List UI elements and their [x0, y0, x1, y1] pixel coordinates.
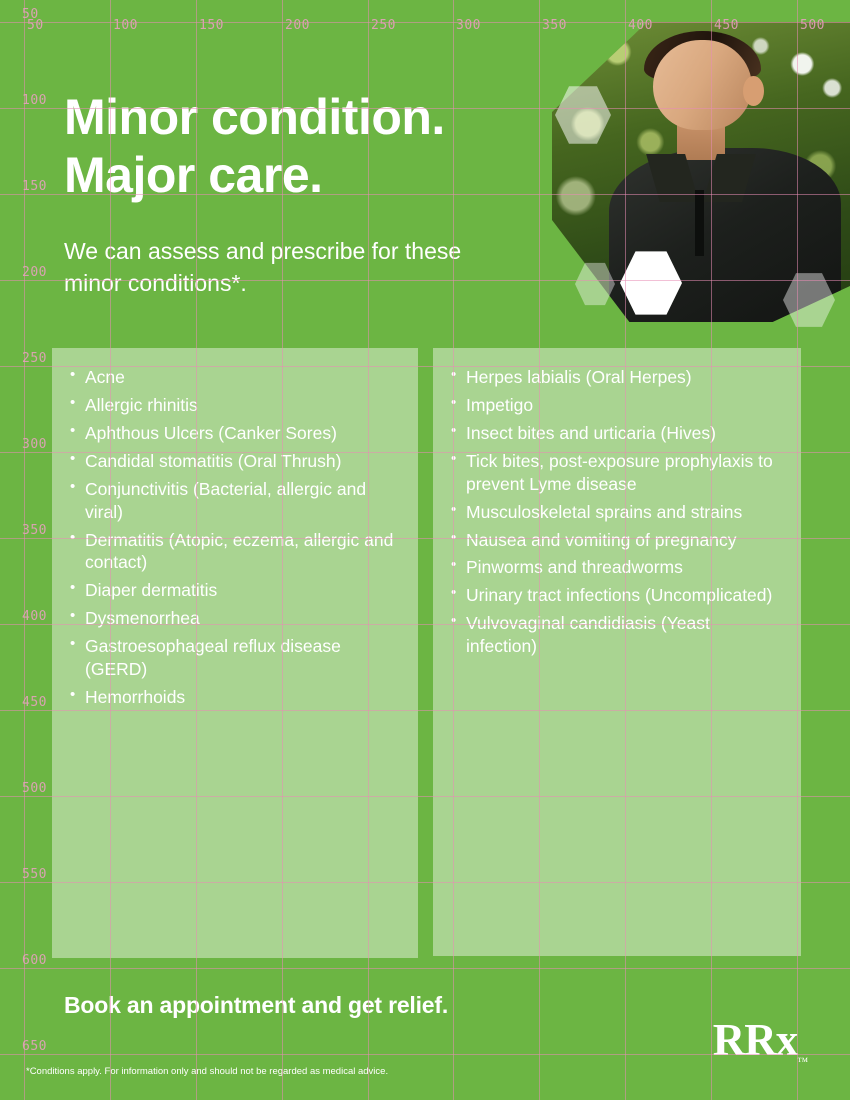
- grid-label-x: 300: [456, 18, 481, 33]
- grid-label-y: 50: [22, 7, 39, 22]
- subheading-line-2: minor conditions*.: [64, 268, 534, 300]
- condition-list-item: Tick bites, post-exposure prophylaxis to…: [449, 450, 785, 496]
- grid-label-y: 350: [22, 523, 47, 538]
- grid-label-y: 450: [22, 695, 47, 710]
- grid-label-x: 100: [113, 18, 138, 33]
- grid-label-y: 150: [22, 179, 47, 194]
- grid-label-y: 250: [22, 351, 47, 366]
- call-to-action-text: Book an appointment and get relief.: [64, 992, 448, 1019]
- condition-list-item: Insect bites and urticaria (Hives): [449, 422, 785, 445]
- condition-list-item: Urinary tract infections (Uncomplicated): [449, 584, 785, 607]
- condition-list-item: Conjunctivitis (Bacterial, allergic and …: [68, 478, 402, 524]
- photo-person-placket: [695, 190, 704, 256]
- condition-list-item: Candidal stomatitis (Oral Thrush): [68, 450, 402, 473]
- condition-list-item: Acne: [68, 366, 402, 389]
- disclaimer-text: *Conditions apply. For information only …: [26, 1066, 388, 1077]
- condition-list-item: Impetigo: [449, 394, 785, 417]
- grid-label-y: 600: [22, 953, 47, 968]
- subheading-line-1: We can assess and prescribe for these: [64, 236, 534, 268]
- photo-person-face: [653, 40, 751, 130]
- grid-label-y: 200: [22, 265, 47, 280]
- condition-list-item: Allergic rhinitis: [68, 394, 402, 417]
- trademark-icon: ™: [797, 1056, 808, 1068]
- grid-label-y: 500: [22, 781, 47, 796]
- condition-list-item: Aphthous Ulcers (Canker Sores): [68, 422, 402, 445]
- grid-label-x: 200: [285, 18, 310, 33]
- headline-line-2: Major care.: [64, 146, 564, 204]
- conditions-list-left: AcneAllergic rhinitisAphthous Ulcers (Ca…: [68, 366, 402, 709]
- grid-label-y: 300: [22, 437, 47, 452]
- condition-list-item: Vulvovaginal candidiasis (Yeast infectio…: [449, 612, 785, 658]
- photo-person-ear: [743, 76, 764, 106]
- grid-label-y: 650: [22, 1039, 47, 1054]
- grid-line-horizontal: [0, 968, 850, 969]
- page-title: Minor condition. Major care.: [64, 88, 564, 204]
- condition-list-item: Hemorrhoids: [68, 686, 402, 709]
- brand-logo-text: RRx: [713, 1015, 798, 1065]
- conditions-card-left: AcneAllergic rhinitisAphthous Ulcers (Ca…: [52, 348, 418, 958]
- condition-list-item: Musculoskeletal sprains and strains: [449, 501, 785, 524]
- conditions-card-right: Herpes labialis (Oral Herpes)ImpetigoIns…: [433, 348, 801, 956]
- condition-list-item: Herpes labialis (Oral Herpes): [449, 366, 785, 389]
- condition-list-item: Dysmenorrhea: [68, 607, 402, 630]
- condition-list-item: Pinworms and threadworms: [449, 556, 785, 579]
- grid-label-x: 250: [371, 18, 396, 33]
- grid-label-y: 100: [22, 93, 47, 108]
- condition-list-item: Diaper dermatitis: [68, 579, 402, 602]
- grid-label-y: 550: [22, 867, 47, 882]
- conditions-list-right: Herpes labialis (Oral Herpes)ImpetigoIns…: [449, 366, 785, 658]
- condition-list-item: Gastroesophageal reflux disease (GERD): [68, 635, 402, 681]
- brand-logo: RRx™: [713, 1018, 808, 1068]
- grid-line-vertical: [24, 0, 25, 1100]
- condition-list-item: Dermatitis (Atopic, eczema, allergic and…: [68, 529, 402, 575]
- subheading: We can assess and prescribe for these mi…: [64, 236, 534, 299]
- grid-label-y: 400: [22, 609, 47, 624]
- grid-label-x: 150: [199, 18, 224, 33]
- poster-canvas: Minor condition. Major care. We can asse…: [0, 0, 850, 1100]
- grid-label-x: 50: [27, 18, 44, 33]
- headline-line-1: Minor condition.: [64, 88, 564, 146]
- grid-label-x: 350: [542, 18, 567, 33]
- condition-list-item: Nausea and vomiting of pregnancy: [449, 529, 785, 552]
